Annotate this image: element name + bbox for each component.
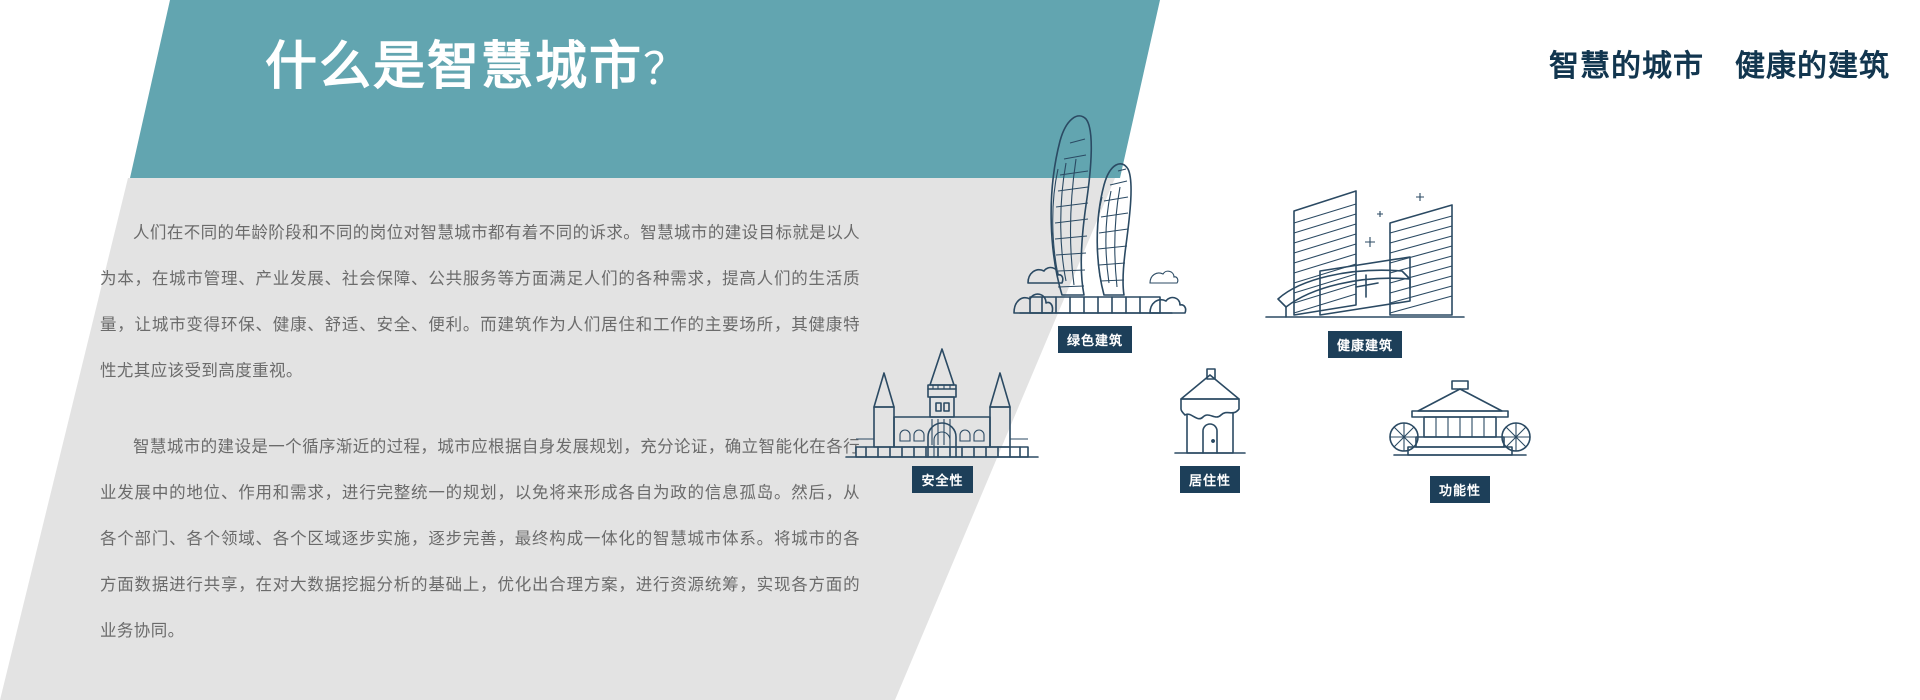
house-tent-icon bbox=[1165, 365, 1255, 460]
twisted-towers-icon bbox=[1000, 105, 1190, 320]
illustration-safety: 安全性 bbox=[840, 345, 1045, 493]
pavilion-icon bbox=[1390, 375, 1530, 470]
hospital-building-icon bbox=[1260, 175, 1470, 325]
illustration-label-health-building: 健康建筑 bbox=[1328, 331, 1402, 358]
illustration-label-livability: 居住性 bbox=[1180, 466, 1240, 493]
illustration-label-functionality: 功能性 bbox=[1430, 476, 1490, 503]
page-title: 什么是智慧城市？ bbox=[265, 36, 689, 98]
illustration-livability: 居住性 bbox=[1165, 365, 1255, 493]
page-title-main: 什么是智慧城市 bbox=[265, 38, 643, 96]
castle-icon bbox=[840, 345, 1045, 460]
illustration-health-building: 健康建筑 bbox=[1260, 175, 1470, 358]
illustration-group: 绿色建筑 健康建筑 bbox=[820, 90, 1920, 700]
illustration-label-safety: 安全性 bbox=[912, 466, 972, 493]
body-text: 人们在不同的年龄阶段和不同的岗位对智慧城市都有着不同的诉求。智慧城市的建设目标就… bbox=[100, 210, 860, 684]
brand-heading: 智慧的城市 健康的建筑 bbox=[1549, 41, 1890, 85]
page-title-question-mark: ？ bbox=[643, 45, 689, 94]
illustration-functionality: 功能性 bbox=[1390, 375, 1530, 503]
illustration-green-building: 绿色建筑 bbox=[1000, 105, 1190, 353]
paragraph-2: 智慧城市的建设是一个循序渐近的过程，城市应根据自身发展规划，充分论证，确立智能化… bbox=[100, 424, 860, 654]
illustration-label-green-building: 绿色建筑 bbox=[1058, 326, 1132, 353]
paragraph-1: 人们在不同的年龄阶段和不同的岗位对智慧城市都有着不同的诉求。智慧城市的建设目标就… bbox=[100, 210, 860, 394]
